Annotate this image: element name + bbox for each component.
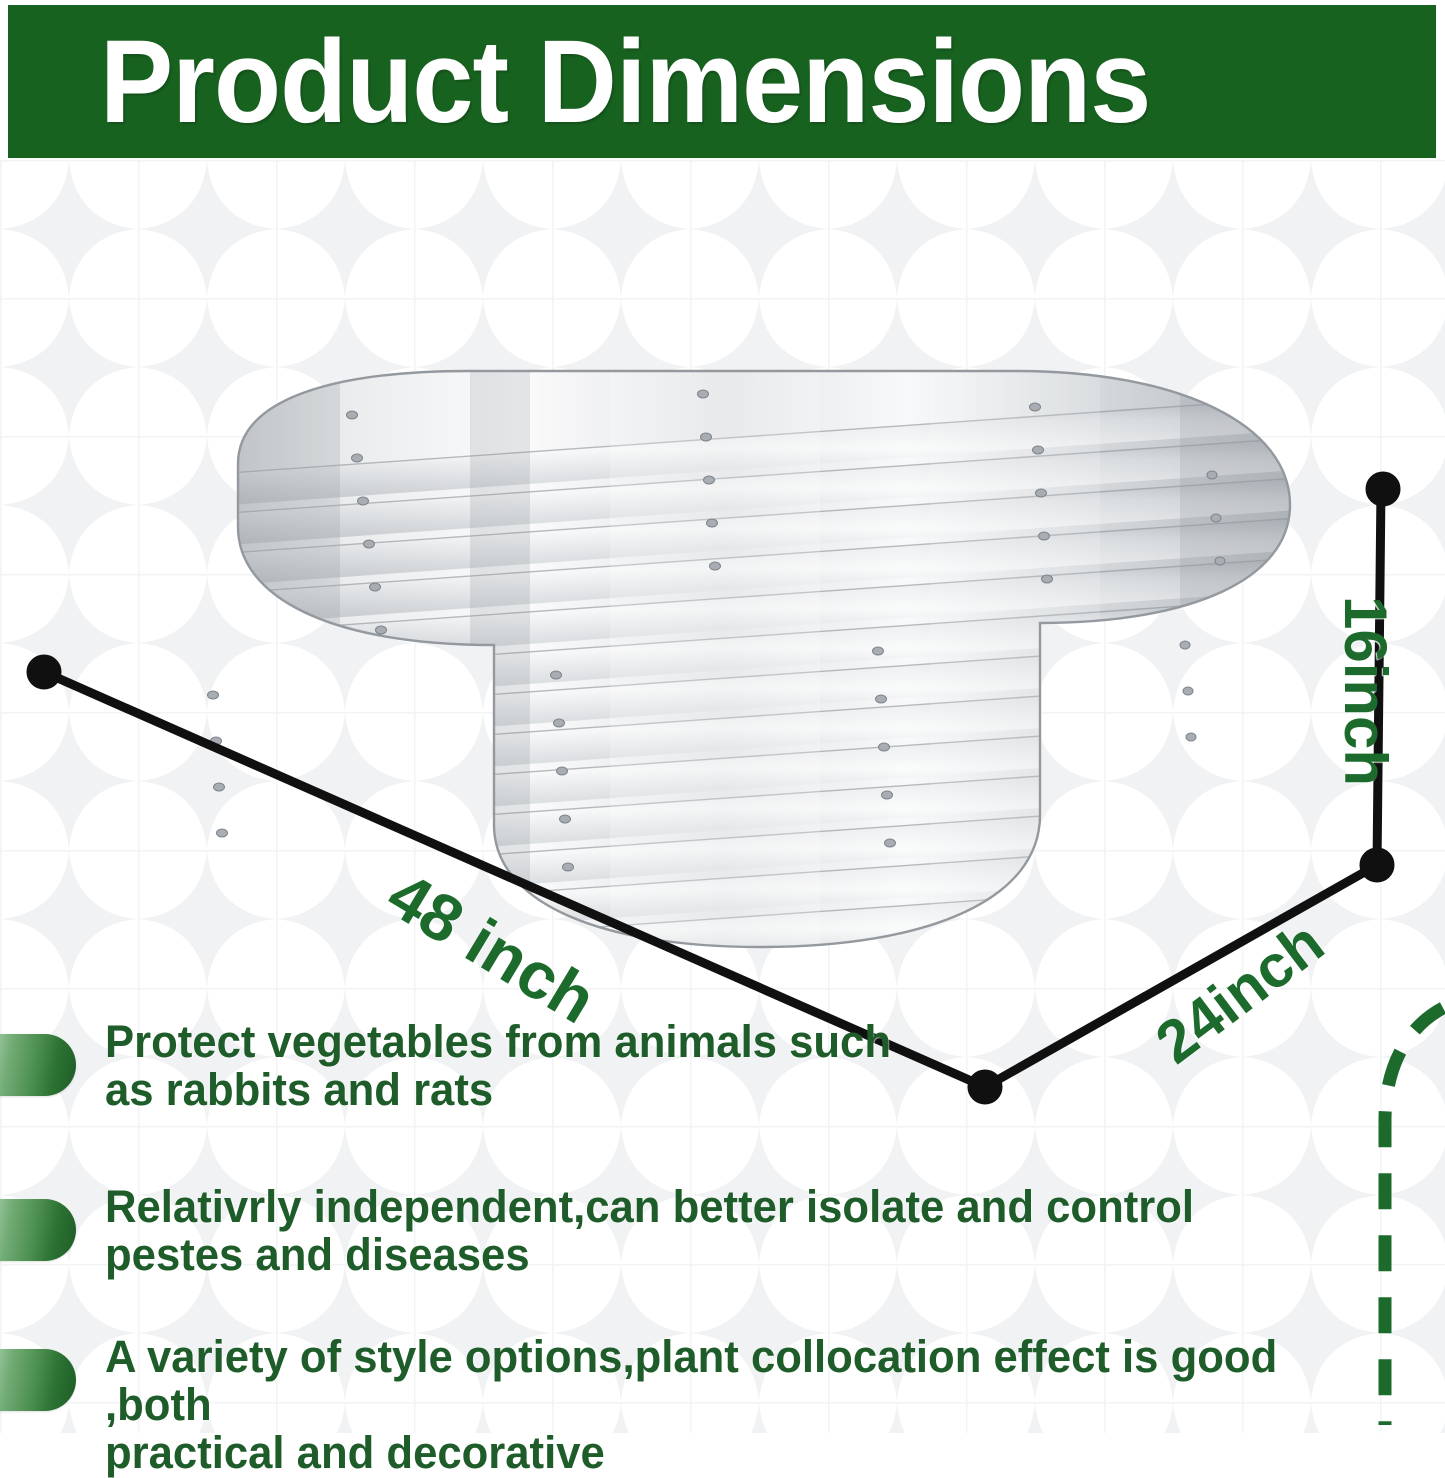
decorative-dashed-arc <box>1335 1000 1445 1433</box>
page-title: Product Dimensions <box>100 23 1150 141</box>
bullet-marker-icon <box>0 1349 76 1411</box>
list-item: Protect vegetables from animals such as … <box>0 1018 1400 1114</box>
feature-text: A variety of style options,plant colloca… <box>105 1333 1361 1477</box>
feature-line: Protect vegetables from animals such <box>105 1018 891 1066</box>
bullet-marker-icon <box>0 1034 76 1096</box>
bed-outer-wall <box>200 355 1340 987</box>
infographic-root: Product Dimensions <box>0 0 1445 1433</box>
feature-line: Relativrly independent,can better isolat… <box>105 1183 1194 1231</box>
list-item: A variety of style options,plant colloca… <box>0 1333 1400 1477</box>
feature-line: practical and decorative <box>105 1429 1361 1477</box>
bullet-marker-icon <box>0 1199 76 1261</box>
feature-text: Protect vegetables from animals such as … <box>105 1018 891 1114</box>
feature-line: as rabbits and rats <box>105 1066 891 1114</box>
feature-list: Protect vegetables from animals such as … <box>0 1018 1445 1433</box>
feature-line: pestes and diseases <box>105 1231 1194 1279</box>
feature-text: Relativrly independent,can better isolat… <box>105 1183 1194 1279</box>
dimension-label-height: 16inch <box>1331 596 1400 786</box>
list-item: Relativrly independent,can better isolat… <box>0 1183 1400 1279</box>
header-banner: Product Dimensions <box>8 5 1436 158</box>
feature-line: A variety of style options,plant colloca… <box>105 1333 1361 1429</box>
